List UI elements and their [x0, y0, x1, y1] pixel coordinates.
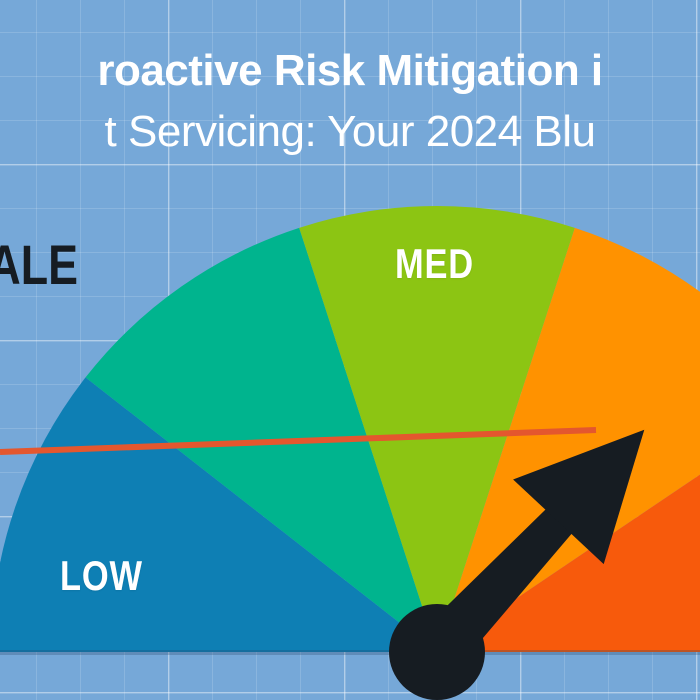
gauge-label-low: LOW [60, 552, 143, 600]
slide-canvas: roactive Risk Mitigation i t Servicing: … [0, 0, 700, 700]
gauge-scale-label: CALE [0, 232, 78, 297]
gauge-label-med: MED [395, 240, 474, 288]
gauge-baseline [0, 650, 700, 655]
